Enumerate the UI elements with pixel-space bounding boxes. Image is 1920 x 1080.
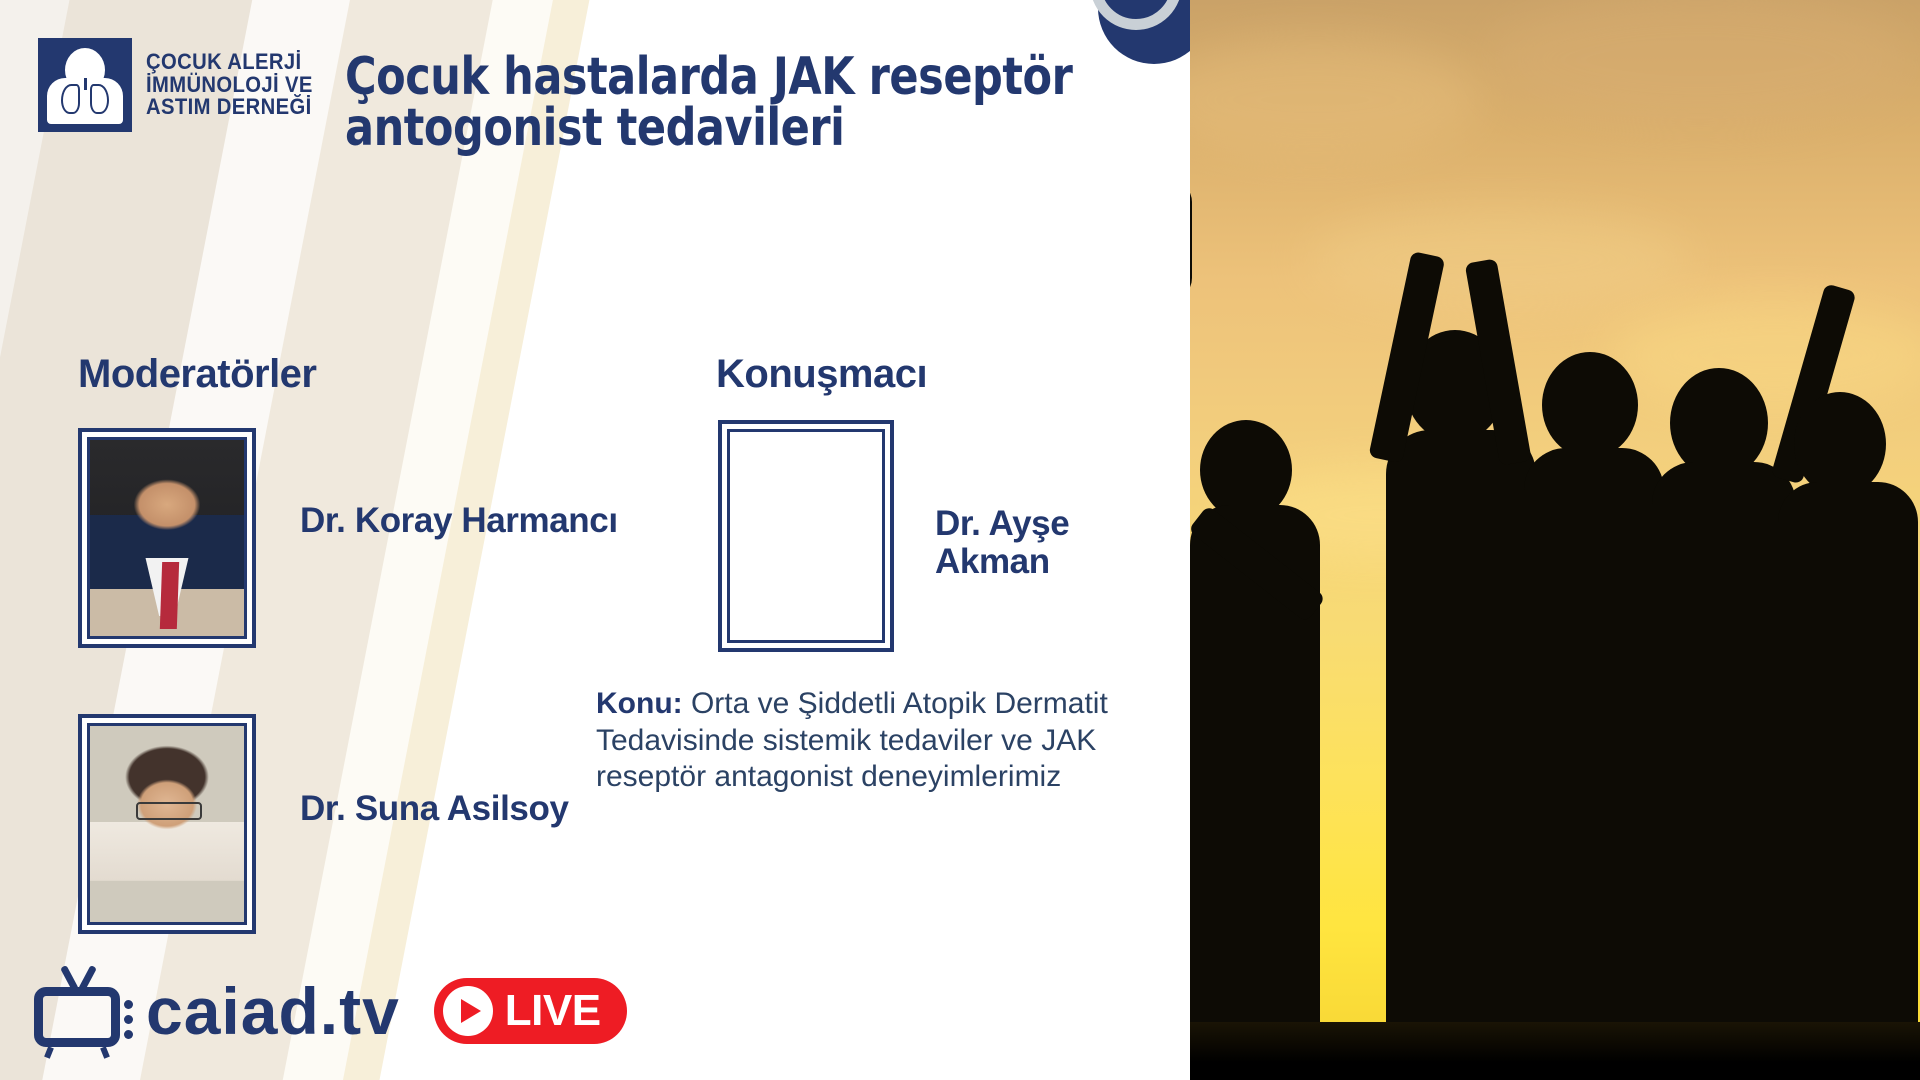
org-name-line-2: İMMÜNOLOJİ VE (146, 74, 313, 97)
moderators-heading: Moderatörler (78, 352, 317, 397)
org-name-line-1: ÇOCUK ALERJİ (146, 51, 313, 74)
moderator-name-1: Dr. Koray Harmancı (300, 502, 618, 540)
moderator-photo-2 (90, 726, 244, 922)
site-name[interactable]: caiad.tv (146, 973, 400, 1049)
page-title: Çocuk hastalarda JAK reseptör antogonist… (345, 52, 1109, 154)
television-icon (34, 965, 138, 1057)
footer-branding: caiad.tv LIVE (34, 965, 627, 1057)
ground-silhouette (1190, 1022, 1920, 1080)
organization-name: ÇOCUK ALERJİ İMMÜNOLOJİ VE ASTIM DERNEĞİ (146, 51, 327, 120)
webinar-poster: ÇOCUK ALERJİ İMMÜNOLOJİ VE ASTIM DERNEĞİ… (0, 0, 1920, 1080)
live-badge[interactable]: LIVE (434, 978, 627, 1044)
speaker-photo-frame (718, 420, 894, 652)
speaker-name: Dr. Ayşe Akman (935, 505, 1190, 581)
live-label: LIVE (505, 986, 601, 1036)
topic-label: Konu: (596, 687, 683, 720)
moderator-photo-frame (78, 428, 256, 648)
play-icon (443, 986, 493, 1036)
speaker-heading: Konuşmacı (716, 352, 927, 397)
hero-image-sunset-silhouettes: 22.01.2025 Çarşamba 20.00-21.00 (1190, 0, 1920, 1080)
moderator-name-2: Dr. Suna Asilsoy (300, 790, 569, 828)
moderator-photo-frame (78, 714, 256, 934)
topic-description: Konu: Orta ve Şiddetli Atopik Dermatit T… (596, 686, 1190, 796)
org-name-line-3: ASTIM DERNEĞİ (146, 96, 313, 119)
moderator-photo-1 (90, 440, 244, 636)
speaker-photo (730, 432, 882, 640)
content-panel: ÇOCUK ALERJİ İMMÜNOLOJİ VE ASTIM DERNEĞİ… (0, 0, 1190, 1080)
organization-logo: ÇOCUK ALERJİ İMMÜNOLOJİ VE ASTIM DERNEĞİ (38, 38, 327, 132)
child-lungs-icon (38, 38, 132, 132)
